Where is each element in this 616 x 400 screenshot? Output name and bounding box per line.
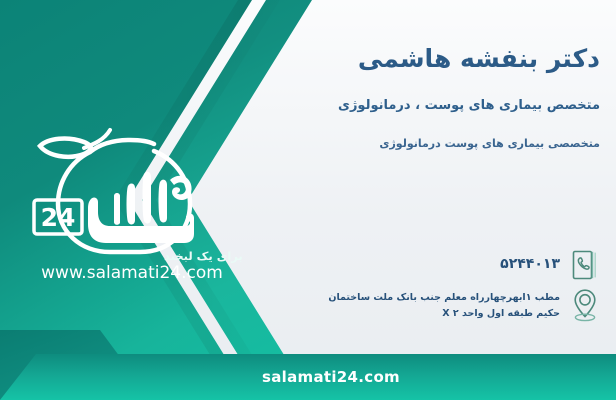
salamati24-logo: 24 برای یک لبخند www.salamati24.com	[14, 100, 246, 280]
logo-url: www.salamati24.com	[41, 263, 223, 280]
address-text: مطب ۱ابهرچهارراه معلم جنب بانک ملت ساختم…	[302, 288, 560, 321]
page-title: دکتر بنفشه هاشمی	[304, 44, 600, 74]
address-row[interactable]: مطب ۱ابهرچهارراه معلم جنب بانک ملت ساختم…	[302, 288, 602, 322]
doctor-profile-card: 24 برای یک لبخند www.salamati24.com دکتر…	[0, 0, 616, 400]
phone-row[interactable]: ۵۲۴۴۰۱۳	[306, 248, 602, 282]
logo-badge: 24	[34, 200, 82, 234]
logo-tagline: برای یک لبخند	[164, 249, 243, 263]
footer-website[interactable]: salamati24.com	[0, 368, 616, 386]
logo-badge-text: 24	[41, 203, 76, 232]
card-content: دکتر بنفشه هاشمی متخصص بیماری های پوست ،…	[286, 0, 616, 400]
footer-website-label: salamati24.com	[216, 368, 400, 386]
phone-book-icon	[568, 248, 602, 282]
doctor-speciality-secondary: متخصصی بیماری های پوست درمانولوژی	[304, 136, 600, 151]
map-pin-icon	[568, 288, 602, 322]
doctor-speciality-primary: متخصص بیماری های پوست ، درمانولوژی	[304, 97, 600, 115]
phone-number: ۵۲۴۴۰۱۳	[306, 248, 560, 272]
logo-brand-word	[88, 172, 194, 243]
